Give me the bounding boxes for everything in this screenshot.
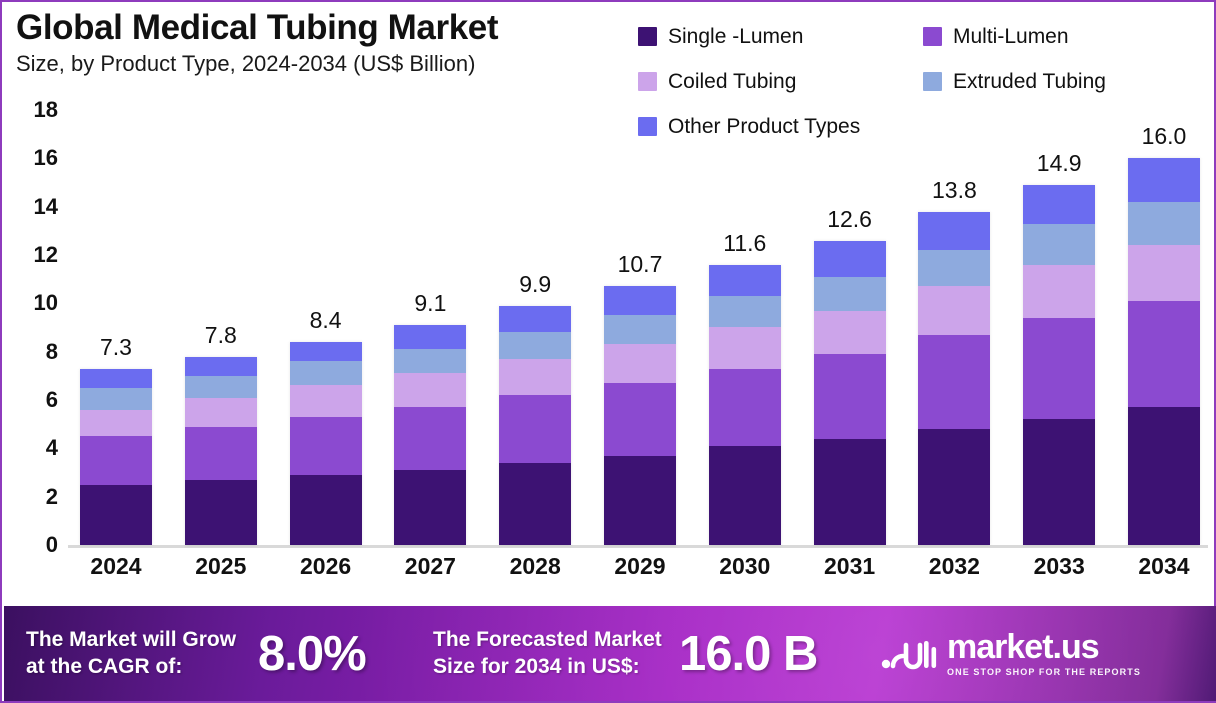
bar-segment-extruded-tubing[interactable] [394, 349, 466, 373]
bar-segment-coiled-tubing[interactable] [394, 373, 466, 407]
bar-segment-extruded-tubing[interactable] [499, 332, 571, 359]
y-axis-tick-4: 4 [46, 435, 58, 461]
legend-item-label: Multi-Lumen [953, 25, 1069, 49]
bar-group-2033[interactable]: 14.9 [1015, 110, 1103, 545]
bar-total-label: 10.7 [618, 251, 663, 278]
legend-item-multi-lumen[interactable]: Multi-Lumen [923, 14, 1208, 59]
bar-stack[interactable] [80, 369, 152, 545]
page-title: Global Medical Tubing Market [16, 10, 498, 47]
bar-segment-extruded-tubing[interactable] [918, 250, 990, 286]
bar-total-label: 7.3 [100, 334, 132, 361]
bar-segment-multi-lumen[interactable] [499, 395, 571, 463]
bar-segment-other-product-types[interactable] [499, 306, 571, 333]
bar-segment-other-product-types[interactable] [1023, 185, 1095, 224]
legend-swatch-icon [923, 72, 942, 91]
bar-group-2027[interactable]: 9.1 [386, 110, 474, 545]
bar-group-2026[interactable]: 8.4 [282, 110, 370, 545]
bar-segment-multi-lumen[interactable] [709, 369, 781, 446]
y-axis-tick-6: 6 [46, 387, 58, 413]
x-axis: 2024202520262027202820292030203120322033… [72, 553, 1208, 593]
forecast-value: 16.0 B [679, 626, 875, 682]
x-axis-tick-2024: 2024 [72, 553, 160, 593]
footer-banner: The Market will Grow at the CAGR of: 8.0… [4, 606, 1216, 701]
bar-group-2034[interactable]: 16.0 [1120, 110, 1208, 545]
legend-item-label: Coiled Tubing [668, 70, 796, 94]
bar-segment-coiled-tubing[interactable] [709, 327, 781, 368]
header: Global Medical Tubing Market Size, by Pr… [2, 2, 1214, 112]
legend-item-extruded-tubing[interactable]: Extruded Tubing [923, 59, 1208, 104]
bar-stack[interactable] [394, 325, 466, 545]
bar-stack[interactable] [290, 342, 362, 545]
bar-segment-coiled-tubing[interactable] [604, 344, 676, 383]
bar-segment-multi-lumen[interactable] [604, 383, 676, 456]
bar-stack[interactable] [604, 286, 676, 545]
bar-segment-multi-lumen[interactable] [1023, 318, 1095, 420]
title-block: Global Medical Tubing Market Size, by Pr… [16, 10, 498, 77]
bar-stack[interactable] [918, 212, 990, 546]
bar-segment-single-lumen[interactable] [814, 439, 886, 545]
y-axis-tick-2: 2 [46, 484, 58, 510]
bar-segment-multi-lumen[interactable] [814, 354, 886, 439]
bar-segment-multi-lumen[interactable] [290, 417, 362, 475]
bar-segment-other-product-types[interactable] [709, 265, 781, 296]
bar-segment-multi-lumen[interactable] [394, 407, 466, 470]
x-axis-tick-2030: 2030 [701, 553, 789, 593]
bar-segment-single-lumen[interactable] [394, 470, 466, 545]
cagr-value: 8.0% [258, 626, 433, 682]
cagr-label: The Market will Grow at the CAGR of: [26, 627, 258, 680]
bar-segment-other-product-types[interactable] [1128, 158, 1200, 202]
y-axis-tick-0: 0 [46, 532, 58, 558]
bar-group-2024[interactable]: 7.3 [72, 110, 160, 545]
forecast-label-line-1: The Forecasted Market [433, 627, 679, 653]
bar-segment-other-product-types[interactable] [604, 286, 676, 315]
legend-item-label: Single -Lumen [668, 25, 803, 49]
bar-segment-single-lumen[interactable] [709, 446, 781, 545]
legend-swatch-icon [638, 27, 657, 46]
bar-segment-single-lumen[interactable] [290, 475, 362, 545]
bar-segment-extruded-tubing[interactable] [1128, 202, 1200, 246]
cagr-label-line-1: The Market will Grow [26, 627, 258, 653]
page-subtitle: Size, by Product Type, 2024-2034 (US$ Bi… [16, 51, 498, 77]
legend-item-single-lumen[interactable]: Single -Lumen [638, 14, 923, 59]
bar-total-label: 12.6 [827, 206, 872, 233]
bar-total-label: 16.0 [1142, 123, 1187, 150]
bar-segment-extruded-tubing[interactable] [1023, 224, 1095, 265]
bar-segment-other-product-types[interactable] [394, 325, 466, 349]
logo-text-block: market.us ONE STOP SHOP FOR THE REPORTS [947, 630, 1141, 677]
bar-segment-single-lumen[interactable] [185, 480, 257, 545]
y-axis-tick-18: 18 [34, 97, 58, 123]
bar-total-label: 7.8 [205, 322, 237, 349]
bar-segment-other-product-types[interactable] [80, 369, 152, 388]
bar-segment-single-lumen[interactable] [1128, 407, 1200, 545]
bar-total-label: 8.4 [310, 307, 342, 334]
bar-segment-extruded-tubing[interactable] [814, 277, 886, 311]
bar-segment-extruded-tubing[interactable] [709, 296, 781, 327]
x-axis-tick-2027: 2027 [386, 553, 474, 593]
bar-segment-coiled-tubing[interactable] [1128, 245, 1200, 301]
bar-segment-single-lumen[interactable] [499, 463, 571, 545]
bar-total-label: 14.9 [1037, 150, 1082, 177]
bar-segment-other-product-types[interactable] [185, 357, 257, 376]
y-axis-tick-16: 16 [34, 145, 58, 171]
x-axis-tick-2034: 2034 [1120, 553, 1208, 593]
bar-total-label: 13.8 [932, 177, 977, 204]
bar-group-2032[interactable]: 13.8 [910, 110, 998, 545]
bar-stack[interactable] [709, 265, 781, 545]
x-axis-tick-2032: 2032 [910, 553, 998, 593]
y-axis-tick-14: 14 [34, 194, 58, 220]
bar-segment-extruded-tubing[interactable] [604, 315, 676, 344]
bar-segment-single-lumen[interactable] [1023, 419, 1095, 545]
bar-segment-other-product-types[interactable] [814, 241, 886, 277]
plot-area: 181614121086420 7.37.88.49.19.910.711.61… [2, 110, 1214, 597]
bar-segment-coiled-tubing[interactable] [1023, 265, 1095, 318]
bar-segment-other-product-types[interactable] [290, 342, 362, 361]
infographic-root: Global Medical Tubing Market Size, by Pr… [0, 0, 1216, 703]
bar-stack[interactable] [1023, 185, 1095, 545]
bar-series-container: 7.37.88.49.19.910.711.612.613.814.916.0 [72, 110, 1208, 545]
legend-item-coiled-tubing[interactable]: Coiled Tubing [638, 59, 923, 104]
bar-stack[interactable] [814, 241, 886, 546]
bar-segment-multi-lumen[interactable] [1128, 301, 1200, 407]
bar-group-2030[interactable]: 11.6 [701, 110, 789, 545]
bar-total-label: 9.1 [414, 290, 446, 317]
bar-segment-coiled-tubing[interactable] [918, 286, 990, 334]
market-us-logo-icon [879, 633, 937, 675]
bar-stack[interactable] [185, 357, 257, 546]
x-axis-tick-2031: 2031 [806, 553, 894, 593]
legend-item-label: Extruded Tubing [953, 70, 1106, 94]
bar-segment-single-lumen[interactable] [80, 485, 152, 545]
legend-swatch-icon [638, 72, 657, 91]
y-axis-tick-12: 12 [34, 242, 58, 268]
bar-segment-extruded-tubing[interactable] [185, 376, 257, 398]
bar-segment-multi-lumen[interactable] [918, 335, 990, 429]
bar-segment-multi-lumen[interactable] [80, 436, 152, 484]
bar-group-2025[interactable]: 7.8 [177, 110, 265, 545]
bar-segment-extruded-tubing[interactable] [80, 388, 152, 410]
bar-total-label: 11.6 [723, 230, 766, 257]
bar-segment-extruded-tubing[interactable] [290, 361, 362, 385]
bar-segment-coiled-tubing[interactable] [185, 398, 257, 427]
bar-stack[interactable] [1128, 158, 1200, 545]
x-axis-tick-2033: 2033 [1015, 553, 1103, 593]
x-axis-tick-2029: 2029 [596, 553, 684, 593]
cagr-label-line-2: at the CAGR of: [26, 654, 258, 680]
bar-segment-coiled-tubing[interactable] [80, 410, 152, 437]
bar-stack[interactable] [499, 306, 571, 545]
logo-wordmark: market.us [947, 630, 1141, 664]
x-axis-baseline [68, 545, 1208, 548]
bar-segment-coiled-tubing[interactable] [814, 311, 886, 355]
bar-group-2031[interactable]: 12.6 [806, 110, 894, 545]
bar-total-label: 9.9 [519, 271, 551, 298]
bar-segment-single-lumen[interactable] [604, 456, 676, 545]
x-axis-tick-2025: 2025 [177, 553, 265, 593]
forecast-label: The Forecasted Market Size for 2034 in U… [433, 627, 679, 680]
logo-tagline: ONE STOP SHOP FOR THE REPORTS [947, 667, 1141, 677]
forecast-label-line-2: Size for 2034 in US$: [433, 654, 679, 680]
x-axis-tick-2026: 2026 [282, 553, 370, 593]
bar-segment-coiled-tubing[interactable] [499, 359, 571, 395]
bar-group-2028[interactable]: 9.9 [491, 110, 579, 545]
y-axis-tick-10: 10 [34, 290, 58, 316]
y-axis: 181614121086420 [2, 110, 64, 597]
x-axis-tick-2028: 2028 [491, 553, 579, 593]
bar-segment-single-lumen[interactable] [918, 429, 990, 545]
y-axis-tick-8: 8 [46, 339, 58, 365]
bar-segment-multi-lumen[interactable] [185, 427, 257, 480]
market-us-logo[interactable]: market.us ONE STOP SHOP FOR THE REPORTS [879, 630, 1141, 677]
bar-group-2029[interactable]: 10.7 [596, 110, 684, 545]
bar-segment-other-product-types[interactable] [918, 212, 990, 251]
bar-segment-coiled-tubing[interactable] [290, 385, 362, 416]
legend-swatch-icon [923, 27, 942, 46]
